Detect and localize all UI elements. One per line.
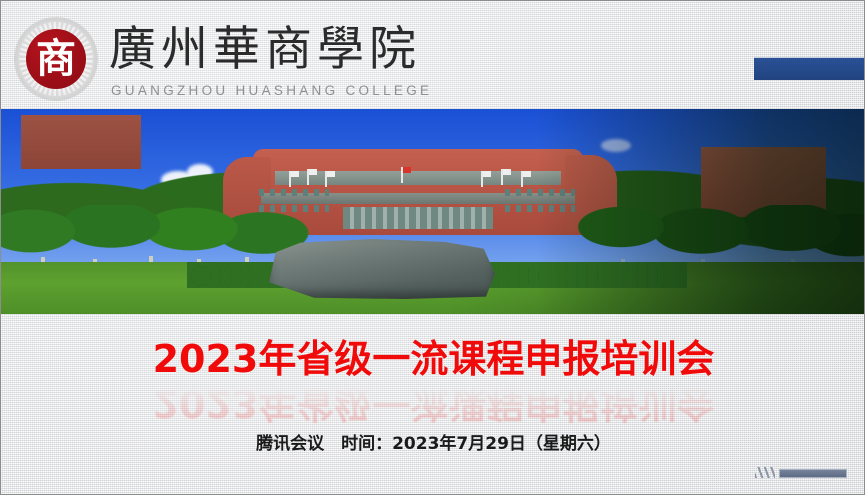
flagpole-icon xyxy=(481,171,483,187)
slide-title-reflection: 2023年省级一流课程申报培训会 xyxy=(1,381,865,425)
college-name-chinese: 廣州華商學院 xyxy=(109,21,421,79)
flagpole-icon xyxy=(289,171,291,187)
emblem-red-disc: 商 xyxy=(26,29,86,89)
emblem-glyph: 商 xyxy=(26,29,86,89)
footer-accent-bar xyxy=(779,469,847,478)
header-accent-bar xyxy=(754,57,865,80)
building-sign-band xyxy=(275,171,561,185)
slash-marks-icon xyxy=(755,467,775,478)
flagpole-icon xyxy=(521,171,523,187)
slide-subtitle: 腾讯会议 时间：2023年7月29日（星期六） xyxy=(1,433,865,455)
college-name-english: GUANGZHOU HUASHANG COLLEGE xyxy=(111,83,432,98)
building-window-row xyxy=(259,189,329,196)
flagpole-icon xyxy=(307,169,309,185)
flagpole-icon xyxy=(501,169,503,185)
slide-title: 2023年省级一流课程申报培训会 xyxy=(1,337,865,381)
slide-footer-decoration xyxy=(755,467,845,479)
flagpole-icon xyxy=(325,171,327,187)
college-emblem-icon: 商 xyxy=(15,18,97,100)
campus-photo: 创百年名校 育华夏英才 xyxy=(1,109,865,314)
slide-header: 商 廣州華商學院 GUANGZHOU HUASHANG COLLEGE xyxy=(1,1,865,109)
photo-building-left xyxy=(21,115,141,169)
flagpole-icon xyxy=(401,167,403,183)
campus-stone-monument xyxy=(269,239,495,299)
presentation-slide: 商 廣州華商學院 GUANGZHOU HUASHANG COLLEGE xyxy=(0,0,865,495)
photo-right-shading xyxy=(536,109,865,314)
